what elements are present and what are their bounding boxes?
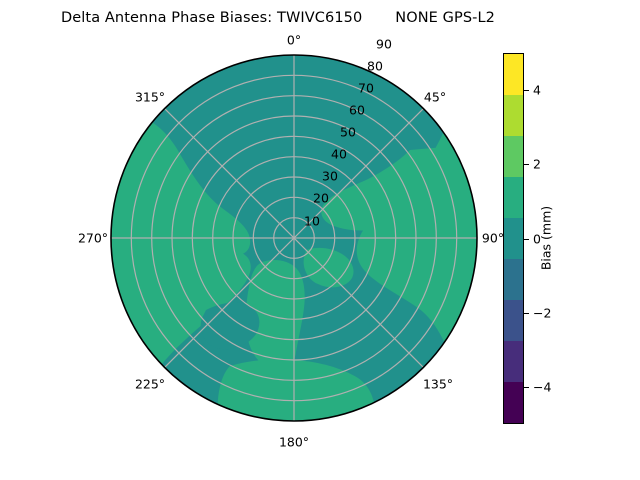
r-tick-30: 30 xyxy=(322,169,338,184)
r-tick-20: 20 xyxy=(313,191,329,206)
colorbar-tick-0 xyxy=(524,239,529,240)
polar-axes[interactable]: 0° 45° 90° 135° 180° 225° 270° 315° 10 2… xyxy=(110,54,478,422)
colorbar-gradient xyxy=(503,53,524,424)
colorbar-segment xyxy=(504,218,523,259)
colorbar-segment xyxy=(504,259,523,300)
colorbar-ticklabel-m4: −4 xyxy=(533,379,551,394)
r-tick-60: 60 xyxy=(349,103,365,118)
r-tick-10: 10 xyxy=(304,214,320,229)
colorbar-segment xyxy=(504,382,523,423)
polar-grid-spokes xyxy=(111,55,477,421)
r-tick-50: 50 xyxy=(340,125,356,140)
r-tick-90: 90 xyxy=(376,37,392,52)
theta-tick-270: 270° xyxy=(78,231,108,246)
colorbar-tick-m2 xyxy=(524,313,529,314)
colorbar-segment xyxy=(504,300,523,341)
theta-tick-0: 0° xyxy=(287,33,301,48)
colorbar-segment xyxy=(504,177,523,218)
theta-tick-225: 225° xyxy=(135,377,165,392)
theta-tick-315: 315° xyxy=(135,90,165,105)
colorbar-tick-m4 xyxy=(524,387,529,388)
polar-plot-svg xyxy=(110,54,478,422)
r-tick-40: 40 xyxy=(331,147,347,162)
r-tick-70: 70 xyxy=(358,81,374,96)
theta-tick-180: 180° xyxy=(279,435,309,450)
colorbar-segment xyxy=(504,54,523,95)
colorbar-tick-2 xyxy=(524,164,529,165)
colorbar-ticklabel-2: 2 xyxy=(533,157,541,172)
colorbar-ticklabel-4: 4 xyxy=(533,83,541,98)
r-tick-80: 80 xyxy=(367,59,383,74)
figure-canvas: Delta Antenna Phase Biases: TWIVC6150 NO… xyxy=(0,0,640,480)
page-title: Delta Antenna Phase Biases: TWIVC6150 NO… xyxy=(0,10,556,26)
theta-tick-135: 135° xyxy=(423,377,453,392)
colorbar-ticklabel-m2: −2 xyxy=(533,305,551,320)
theta-tick-90: 90° xyxy=(482,231,504,246)
colorbar-segment xyxy=(504,136,523,177)
colorbar-tick-4 xyxy=(524,90,529,91)
colorbar-segment xyxy=(504,341,523,382)
theta-tick-45: 45° xyxy=(424,90,446,105)
colorbar-axis-label: Bias (mm) xyxy=(539,206,554,270)
colorbar-segment xyxy=(504,95,523,136)
colorbar[interactable]: 4 2 0 −2 −4 xyxy=(503,53,524,424)
